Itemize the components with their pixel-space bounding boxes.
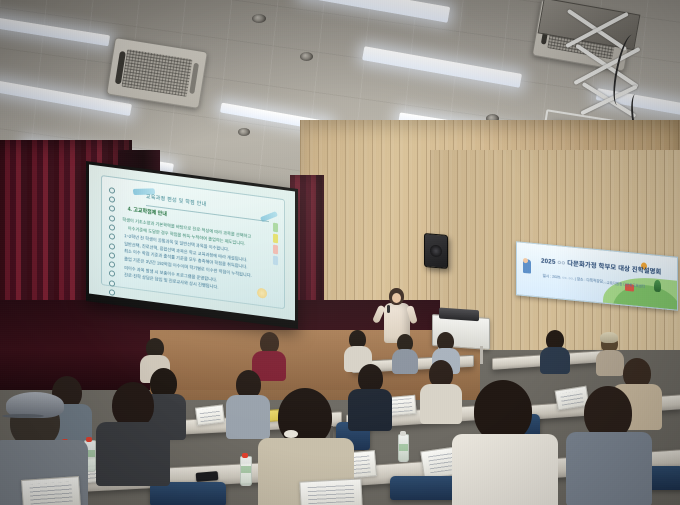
- ceiling-sprinkler-icon: [300, 52, 313, 61]
- attendee-torso: [392, 349, 418, 374]
- slide-decoration-icon: [257, 287, 267, 298]
- projection-screen-surface: 교육과정 편성 및 학점 안내 4. 고교학점제 안내 학생이 기초소양과 기본…: [89, 164, 295, 320]
- attendee: [96, 382, 170, 482]
- banner-tree-icon: [654, 280, 661, 293]
- attendee: [566, 386, 652, 502]
- bottle-label: [399, 444, 408, 451]
- handout-paper: [195, 404, 225, 425]
- mobile-phone: [196, 471, 219, 482]
- presenter-face: [392, 293, 401, 303]
- banner-title: 2025 ○○ 다문화가정 학부모 대상 진학설명회: [541, 256, 672, 278]
- hair-tie-icon: [284, 430, 298, 438]
- handout-paper: [299, 478, 362, 505]
- cap-brim: [2, 414, 44, 418]
- audience-area: [0, 330, 680, 505]
- attendee: [392, 334, 418, 372]
- banner-subtitle: 일시 : 2025. ○○. ○○. | 장소 : 다목적강당: [543, 274, 603, 285]
- ceiling-sprinkler-icon: [238, 128, 250, 136]
- water-bottle: [240, 456, 252, 486]
- projection-screen: 교육과정 편성 및 학점 안내 4. 고교학점제 안내 학생이 기초소양과 기본…: [86, 161, 298, 329]
- attendee-torso: [452, 434, 558, 505]
- microphone-icon: [387, 305, 390, 313]
- bottle-cap: [400, 431, 406, 436]
- attendee: [452, 380, 558, 505]
- banner-person-illustration: [523, 257, 532, 280]
- presentation-slide: 교육과정 편성 및 학점 안내 4. 고교학점제 안내 학생이 기초소양과 기본…: [101, 175, 284, 309]
- attendee: [540, 330, 570, 372]
- slide-side-chips: [273, 223, 278, 268]
- slide-spiral-binding: [109, 187, 114, 277]
- attendee-torso: [566, 432, 652, 505]
- lecture-hall-photo: 교육과정 편성 및 학점 안내 4. 고교학점제 안내 학생이 기초소양과 기본…: [0, 0, 680, 505]
- water-bottle: [398, 434, 409, 462]
- wall-speaker: [424, 233, 448, 269]
- banner-hill-illustration: [603, 274, 677, 310]
- cap-hat: [600, 332, 618, 343]
- ac-grille: [121, 49, 192, 97]
- attendee-torso: [348, 389, 392, 431]
- attendee-head: [474, 380, 532, 442]
- bottle-cap: [242, 453, 248, 458]
- handout-paper: [21, 476, 81, 505]
- attendee: [348, 364, 392, 426]
- ceiling-sprinkler-icon: [252, 14, 266, 23]
- attendee-torso: [540, 347, 570, 374]
- attendee-torso: [96, 422, 170, 486]
- bottle-label: [241, 466, 251, 473]
- av-equipment: [439, 307, 479, 321]
